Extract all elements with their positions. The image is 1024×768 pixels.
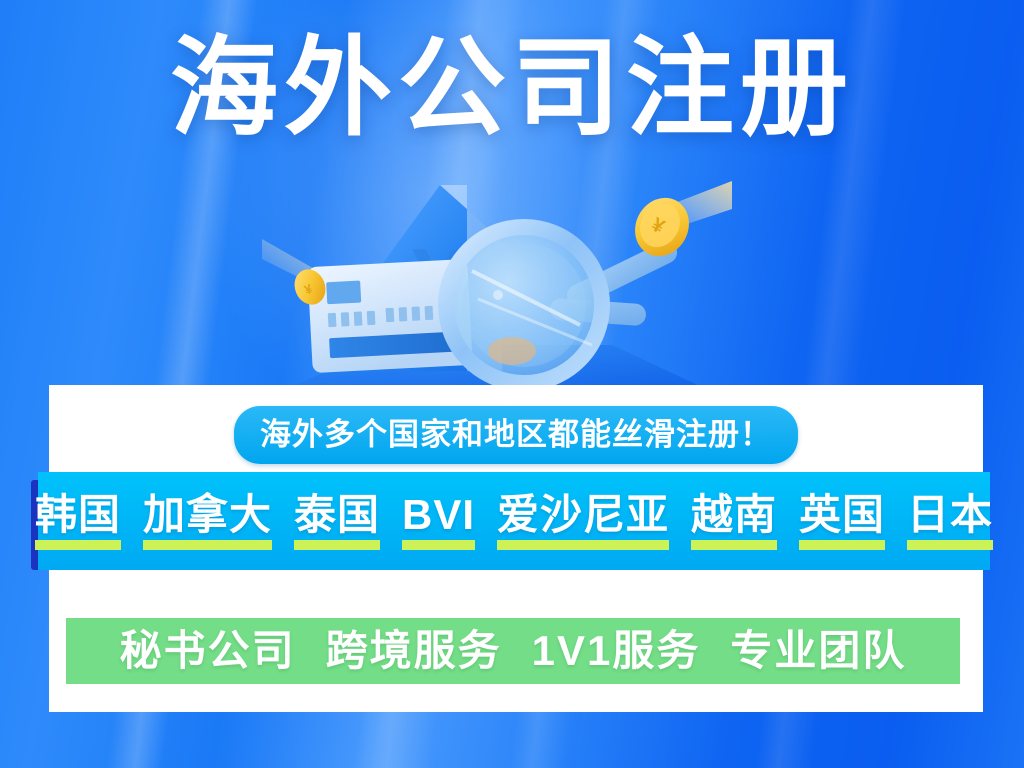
country-item[interactable]: 越南 <box>691 492 777 550</box>
service-item[interactable]: 秘书公司 <box>120 628 296 674</box>
service-item[interactable]: 跨境服务 <box>326 628 502 674</box>
country-item[interactable]: 加拿大 <box>143 492 272 550</box>
country-item[interactable]: BVI <box>402 492 475 550</box>
country-band: 韩国 加拿大 泰国 BVI 爱沙尼亚 越南 英国 日本 <box>38 472 990 570</box>
page-title: 海外公司注册 <box>0 26 1024 150</box>
country-item[interactable]: 日本 <box>907 492 993 550</box>
service-item[interactable]: 专业团队 <box>730 628 906 674</box>
country-item[interactable]: 英国 <box>799 492 885 550</box>
country-item[interactable]: 泰国 <box>294 492 380 550</box>
badge-container: 海外多个国家和地区都能丝滑注册！ <box>49 406 983 464</box>
country-item[interactable]: 爱沙尼亚 <box>497 492 669 550</box>
service-band: 秘书公司 跨境服务 1V1服务 专业团队 <box>66 618 960 684</box>
country-item[interactable]: 韩国 <box>35 492 121 550</box>
service-item[interactable]: 1V1服务 <box>532 628 701 674</box>
overseas-company-registration-banner: 海外公司注册 <box>0 0 1024 768</box>
hero-illustration: ¥ <box>262 175 732 400</box>
status-badge: 海外多个国家和地区都能丝滑注册！ <box>234 406 798 464</box>
